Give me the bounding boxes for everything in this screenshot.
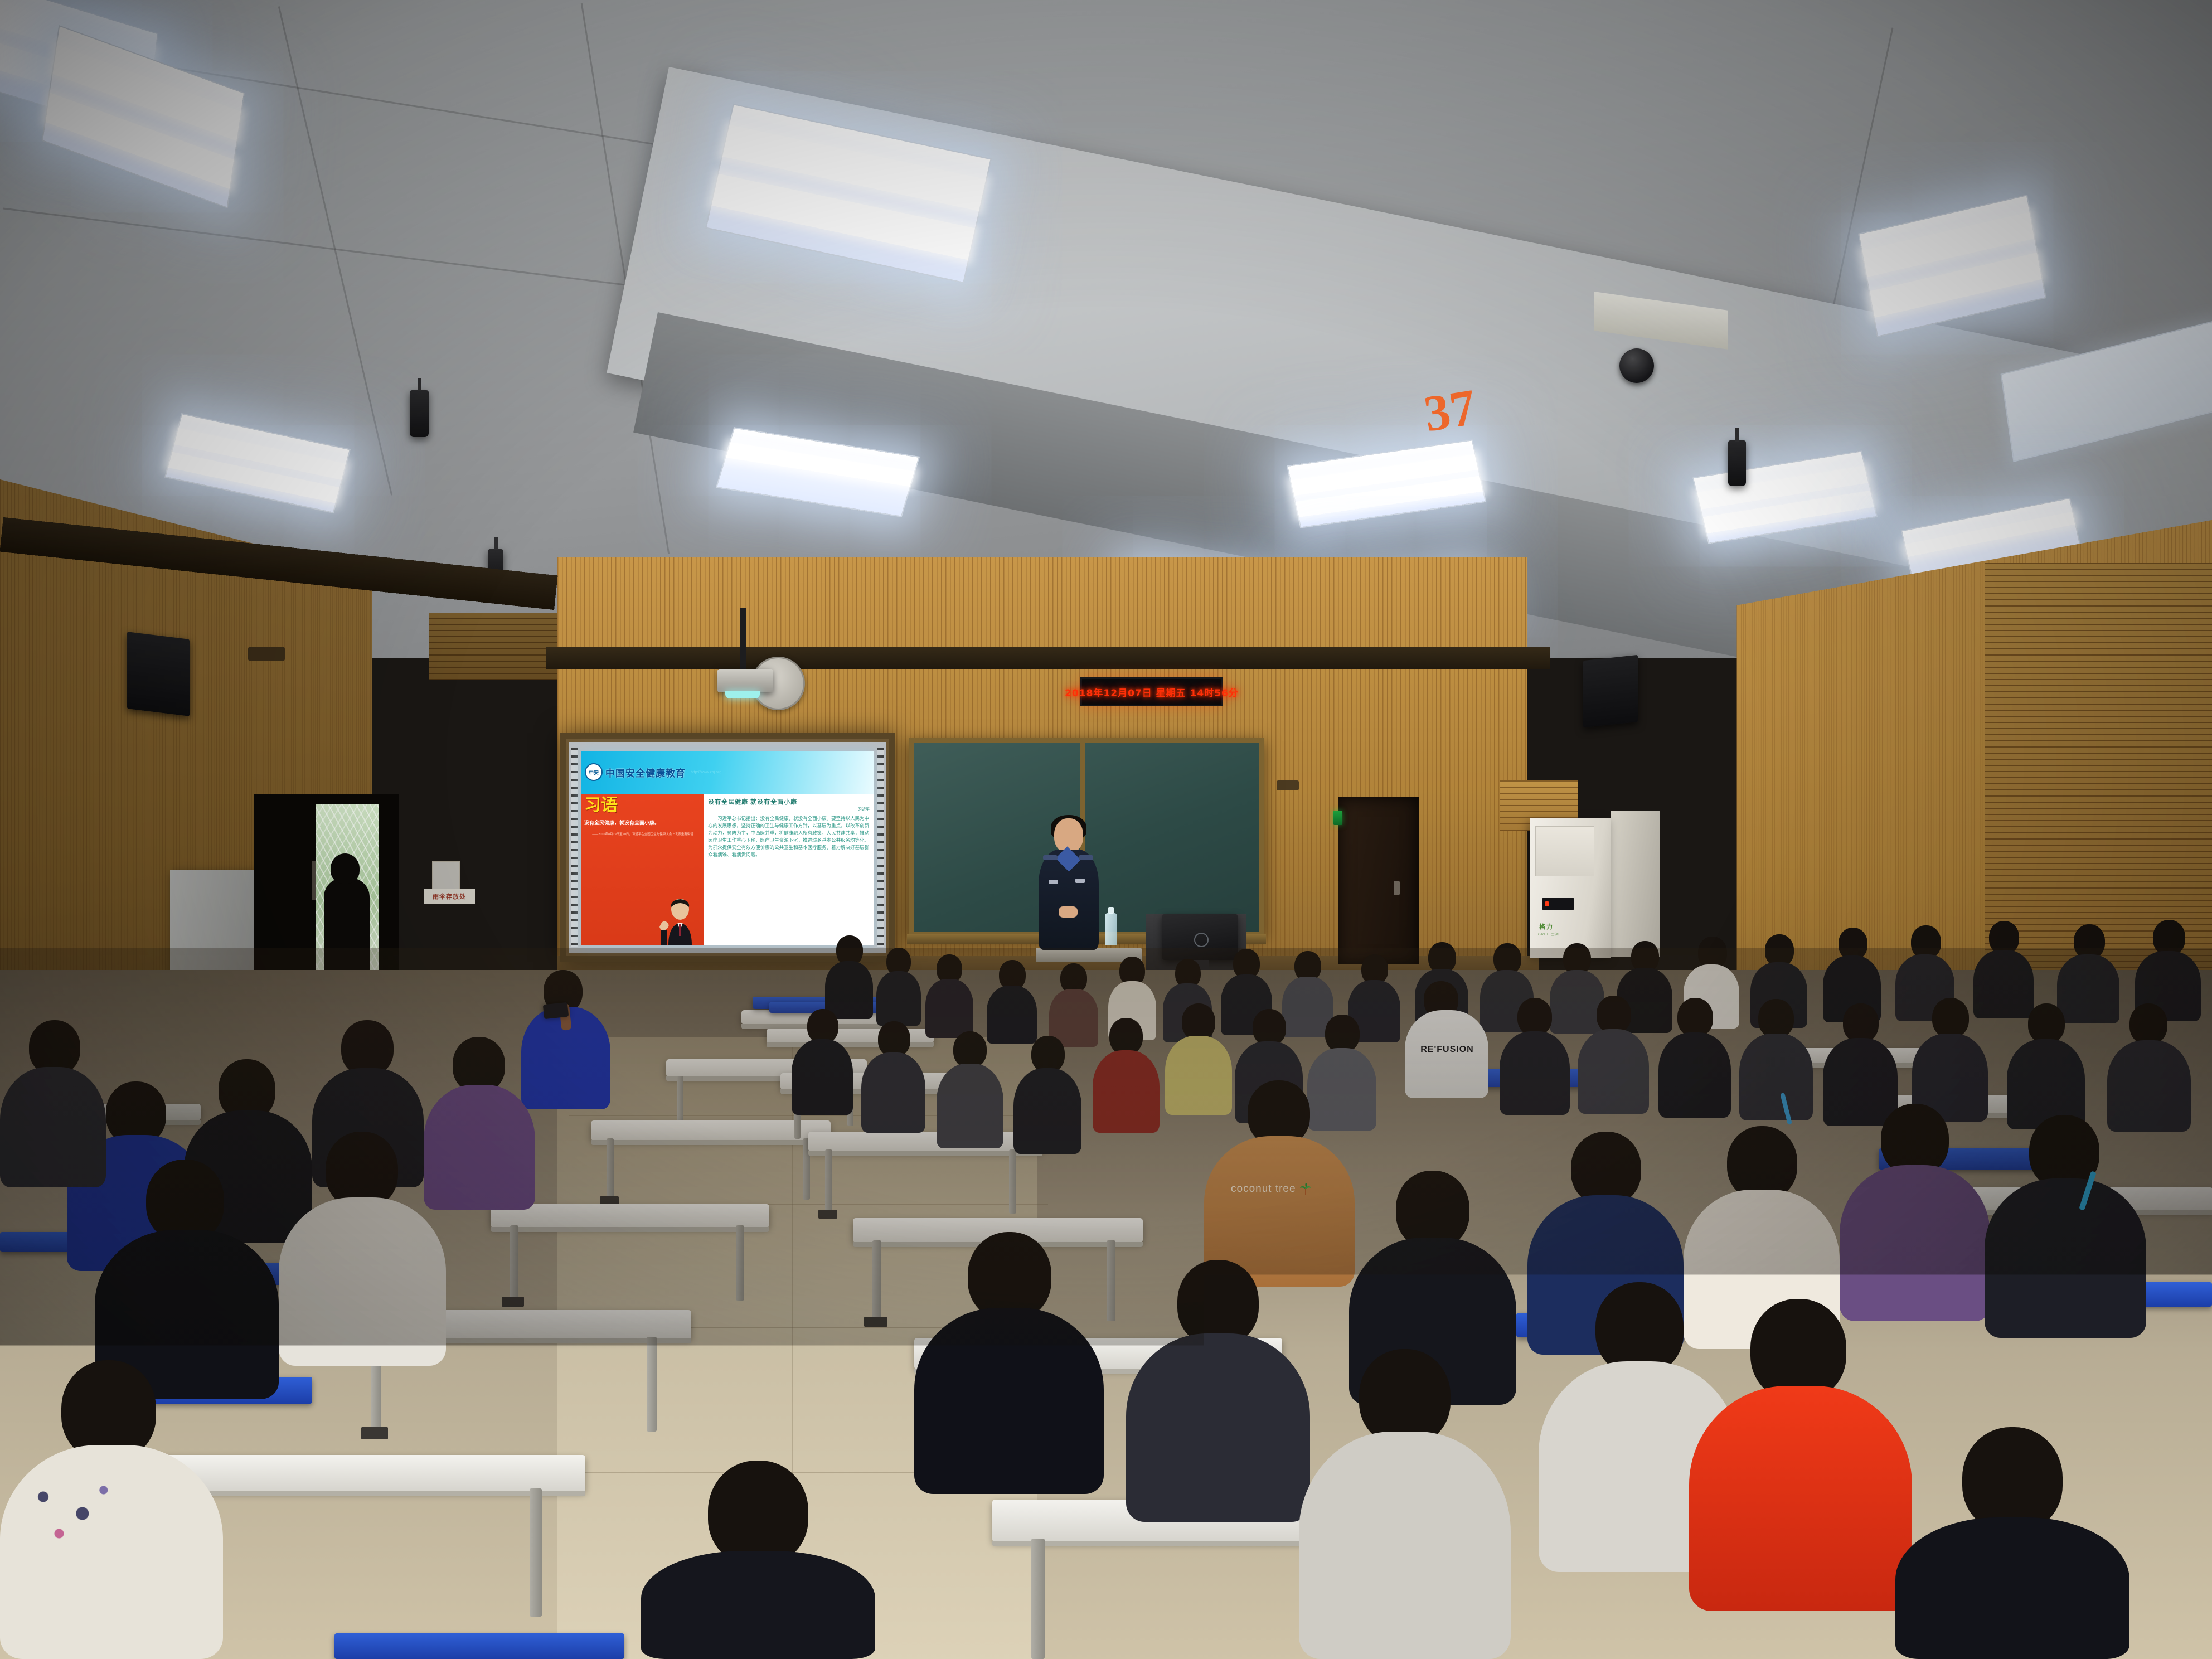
audience-member-coconut-tree-jacket: coconut tree — [1204, 1080, 1355, 1287]
audience-member — [792, 1009, 853, 1115]
audience-member-red-vest — [1689, 1299, 1912, 1611]
smartphone[interactable] — [543, 1002, 569, 1019]
monitor-brand-logo-icon — [1194, 933, 1209, 947]
slide-body: 习语 没有全民健康，就没有全面小康。 ——2016年8月19日至20日，习近平在… — [581, 794, 874, 945]
slide-quote: 没有全民健康，就没有全面小康。 — [584, 819, 701, 826]
presenter-hands — [1059, 906, 1078, 918]
uniform-epaulette — [1043, 855, 1058, 860]
led-date-time-display: 2018年12月07日 星期五 14时56分 — [1080, 677, 1223, 706]
presenter — [1034, 818, 1101, 947]
ac-grille — [1535, 826, 1594, 876]
uniform-epaulette — [1079, 855, 1093, 860]
uniform-badge — [1049, 880, 1058, 884]
audience-member — [914, 1232, 1104, 1494]
projector-pole — [740, 608, 746, 670]
desk-foot — [502, 1297, 524, 1307]
ceiling-light-panel — [164, 413, 351, 513]
slide-url: http://www.zaj.org — [691, 770, 721, 774]
audience-member — [641, 1461, 875, 1659]
screen-perforation-strip — [571, 748, 578, 947]
wall-bracket — [1277, 780, 1299, 790]
audience-member — [0, 1020, 106, 1187]
audience-member — [1578, 996, 1649, 1114]
organization-logo-icon: 中安 — [585, 763, 603, 781]
ceiling-seam — [278, 6, 392, 496]
audience-member — [825, 935, 873, 1019]
audience-member — [1299, 1349, 1511, 1659]
ceiling-spotlight — [1728, 440, 1746, 486]
garment-text-refusion: RE'FUSION — [1417, 1044, 1477, 1056]
star-pattern-fabric — [17, 1472, 123, 1555]
emergency-exit-indicator-icon — [1333, 811, 1342, 825]
desk-foot — [818, 1210, 837, 1219]
slide-left-panel: 习语 没有全民健康，就没有全面小康。 ——2016年8月19日至20日，习近平在… — [581, 794, 704, 945]
audience-member — [861, 1021, 925, 1133]
slide-org-title: 中国安全健康教育 — [605, 765, 686, 779]
slide-attribution: 习近平 — [708, 807, 870, 812]
presentation-slide: 中安 中国安全健康教育 http://www.zaj.org 习语 没有全民健康… — [581, 751, 874, 945]
lecture-hall-photo: 37 2018年12月07日 星期五 14时56分 中安 中国安全健康教育 — [0, 0, 2212, 1659]
audience-member — [925, 954, 973, 1038]
uniform-badge — [1075, 879, 1085, 883]
slide-paragraph: 习近平总书记指出：没有全民健康，就没有全面小康。要坚持以人民为中心的发展思想，坚… — [708, 815, 870, 859]
desk-leg — [1107, 1240, 1115, 1321]
audience-member — [876, 948, 921, 1026]
audience-member — [1013, 1036, 1081, 1154]
wall-top-band — [546, 647, 1550, 669]
ac-brand-label: 格力 — [1539, 922, 1554, 931]
desk-leg — [510, 1225, 518, 1301]
wall-notice — [432, 861, 460, 889]
screen-perforation-strip — [877, 748, 884, 947]
door-handle[interactable] — [1394, 881, 1400, 895]
led-text: 2018年12月07日 星期五 14时56分 — [1065, 685, 1239, 699]
desk-leg — [530, 1488, 542, 1617]
audience-member — [1500, 998, 1570, 1115]
audience-member — [1049, 963, 1098, 1047]
security-camera-icon — [1619, 348, 1654, 383]
ac-brand-sublabel: GREE 空调 — [1538, 932, 1559, 937]
door-hinge — [312, 861, 316, 900]
desk-leg — [1031, 1539, 1045, 1659]
slide-heading: 没有全民健康 就没有全面小康 — [708, 797, 870, 806]
door-right[interactable] — [1338, 797, 1419, 964]
desk-leg — [872, 1240, 881, 1321]
air-conditioner-side — [1611, 811, 1660, 957]
audience-member — [1739, 999, 1813, 1120]
person-in-doorway — [324, 878, 370, 979]
audience-member — [2107, 1003, 2191, 1132]
projection-screen: 中安 中国安全健康教育 http://www.zaj.org 习语 没有全民健康… — [560, 733, 895, 962]
desk-leg — [736, 1225, 744, 1301]
audience-member — [1658, 998, 1731, 1118]
desk-foot — [864, 1317, 887, 1327]
audience-member — [1840, 1104, 1990, 1321]
audience-member — [937, 1031, 1003, 1148]
garment-text-coconut-tree: coconut tree — [1231, 1182, 1331, 1196]
slide-right-panel: 没有全民健康 就没有全面小康 习近平 习近平总书记指出：没有全民健康，就没有全面… — [704, 794, 874, 945]
audience-member — [1912, 998, 1988, 1122]
desk-leg — [825, 1149, 832, 1214]
slide-headline: 习语 — [584, 797, 701, 814]
desk-leg — [647, 1337, 657, 1432]
screen-surface: 中安 中国安全健康教育 http://www.zaj.org 习语 没有全民健康… — [569, 742, 886, 953]
ceiling-spotlight — [410, 390, 429, 437]
door-open[interactable] — [254, 794, 399, 978]
seat — [334, 1633, 624, 1659]
wall-bracket — [248, 647, 285, 661]
audience-member — [2024, 1299, 2212, 1544]
wall-sign-umbrella-storage: 雨伞存放处 — [424, 889, 475, 904]
audience-member — [1093, 1018, 1160, 1133]
air-conditioner: 格力 GREE 空调 — [1530, 818, 1611, 958]
ceiling-marking: 37 — [1422, 386, 1478, 435]
wall-speaker-right — [1583, 655, 1638, 727]
desk-foot — [361, 1427, 388, 1439]
wall-speaker-left — [127, 632, 190, 716]
water-bottle — [1105, 913, 1117, 945]
garment-text-label: coconut tree — [1231, 1183, 1296, 1195]
desk-leg — [677, 1076, 683, 1126]
portrait-illustration-icon — [656, 896, 702, 945]
ceiling-light-panel — [1858, 195, 2046, 337]
desk-leg — [1009, 1149, 1016, 1214]
audience-member-refusion-hoodie: RE'FUSION — [1405, 981, 1488, 1098]
audience-member — [1126, 1260, 1310, 1522]
palm-tree-icon — [1299, 1183, 1312, 1195]
audience-member — [0, 1360, 223, 1659]
desk-leg — [607, 1138, 614, 1200]
slide-header: 中安 中国安全健康教育 http://www.zaj.org — [581, 751, 874, 794]
audience-member — [2007, 1003, 2085, 1129]
audience-member — [279, 1132, 446, 1366]
slide-quote-source: ——2016年8月19日至20日，习近平在全国卫生与健康大会上发表重要讲话 — [584, 832, 701, 837]
wall-louver-panel — [429, 613, 557, 680]
ac-display-panel[interactable] — [1542, 898, 1574, 910]
projector — [717, 669, 773, 692]
desk — [808, 1132, 1042, 1152]
